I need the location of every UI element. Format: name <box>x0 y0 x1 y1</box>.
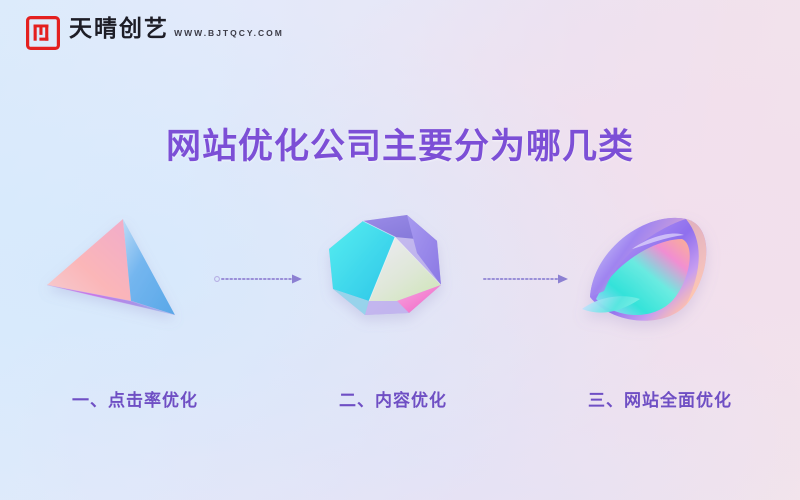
flow-step-1-shape <box>35 205 225 355</box>
flow-step-3-shape <box>560 205 750 355</box>
flow-step-1-caption: 一、点击率优化 <box>5 386 265 411</box>
flow-arrow-2 <box>480 267 572 291</box>
brand-logo: 天晴创艺 WWW.BJTQCY.COM <box>26 16 284 50</box>
brand-website-url: WWW.BJTQCY.COM <box>174 28 284 38</box>
flow-step-2-caption: 二、内容优化 <box>263 386 523 411</box>
brand-company-name: 天晴创艺 <box>69 16 169 42</box>
flow-arrow-1 <box>214 267 306 291</box>
brand-text-group: 天晴创艺 WWW.BJTQCY.COM <box>69 16 284 42</box>
flow-diagram <box>0 205 800 355</box>
flow-step-3-caption: 三、网站全面优化 <box>530 386 790 411</box>
flow-captions: 一、点击率优化 二、内容优化 三、网站全面优化 <box>0 386 800 416</box>
flow-step-2-shape <box>297 205 487 355</box>
page-title: 网站优化公司主要分为哪几类 <box>0 118 800 169</box>
tqcy-square-logo-icon <box>26 16 60 50</box>
